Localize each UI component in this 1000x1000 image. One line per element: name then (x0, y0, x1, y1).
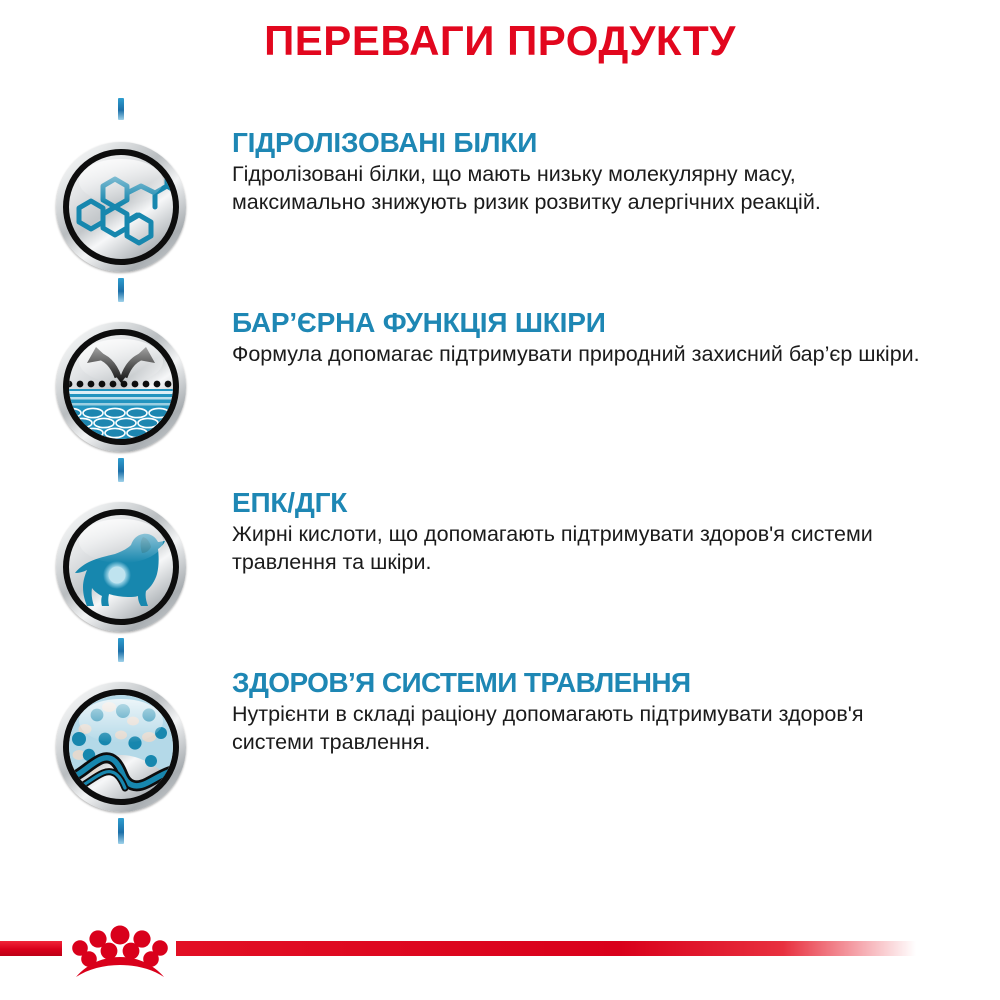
connector-line-segment (118, 278, 124, 302)
benefits-list: ГІДРОЛІЗОВАНІ БІЛКИ Гідролізовані білки,… (0, 120, 1000, 840)
connector-line-segment (118, 818, 124, 844)
benefit-heading: ЗДОРОВ’Я СИСТЕМИ ТРАВЛЕННЯ (232, 668, 920, 697)
benefit-heading: ЕПК/ДГК (232, 488, 920, 517)
text-column: БАР’ЄРНА ФУНКЦІЯ ШКІРИ Формула допомагає… (232, 300, 1000, 369)
royal-canin-crown-logo (62, 915, 178, 985)
connector-line-segment (118, 458, 124, 482)
icon-column (0, 120, 232, 300)
digestive-health-icon (56, 682, 186, 812)
text-column: ЗДОРОВ’Я СИСТЕМИ ТРАВЛЕННЯ Нутрієнти в с… (232, 660, 1000, 757)
benefit-body: Нутрієнти в складі раціону допомагають п… (232, 701, 920, 757)
benefit-item-digestive-health: ЗДОРОВ’Я СИСТЕМИ ТРАВЛЕННЯ Нутрієнти в с… (0, 660, 1000, 840)
benefit-body: Жирні кислоти, що допомагають підтримува… (232, 521, 920, 577)
benefit-body: Гідролізовані білки, що мають низьку мол… (232, 161, 920, 217)
logo-bar-left (0, 941, 62, 956)
text-column: ЕПК/ДГК Жирні кислоти, що допомагають пі… (232, 480, 1000, 577)
molecule-icon (56, 142, 186, 272)
logo-bar-right (176, 941, 916, 956)
benefit-heading: ГІДРОЛІЗОВАНІ БІЛКИ (232, 128, 920, 157)
benefit-item-hydrolysed-proteins: ГІДРОЛІЗОВАНІ БІЛКИ Гідролізовані білки,… (0, 120, 1000, 300)
benefit-item-skin-barrier: БАР’ЄРНА ФУНКЦІЯ ШКІРИ Формула допомагає… (0, 300, 1000, 480)
skin-barrier-icon (56, 322, 186, 452)
icon-column (0, 300, 232, 480)
connector-line-segment (118, 98, 124, 120)
benefit-heading: БАР’ЄРНА ФУНКЦІЯ ШКІРИ (232, 308, 920, 337)
connector-line-segment (118, 638, 124, 662)
benefit-body: Формула допомагає підтримувати природний… (232, 341, 920, 369)
dog-icon (56, 502, 186, 632)
page-title: ПЕРЕВАГИ ПРОДУКТУ (0, 20, 1000, 62)
brand-footer (0, 915, 1000, 985)
icon-column (0, 660, 232, 840)
text-column: ГІДРОЛІЗОВАНІ БІЛКИ Гідролізовані білки,… (232, 120, 1000, 217)
icon-column (0, 480, 232, 660)
benefit-item-epa-dha: ЕПК/ДГК Жирні кислоти, що допомагають пі… (0, 480, 1000, 660)
